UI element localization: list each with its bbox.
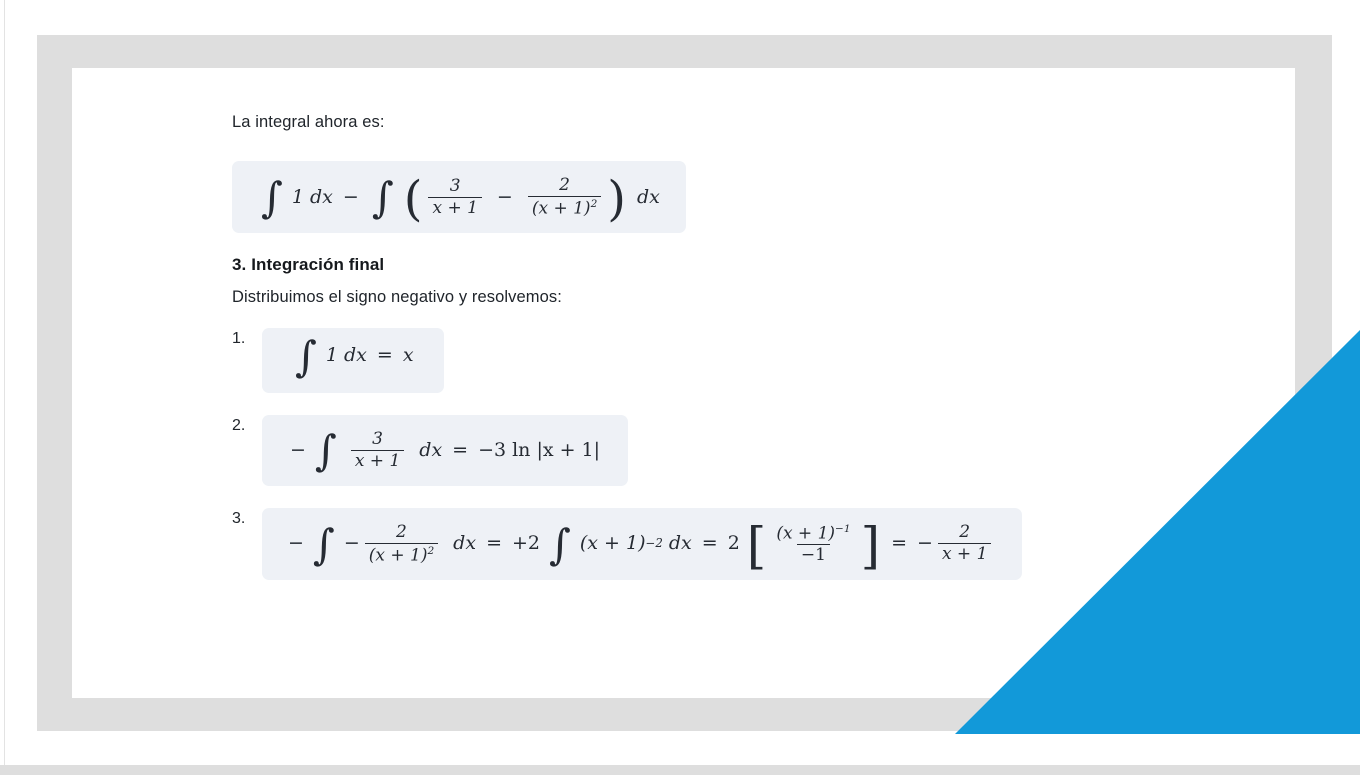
inner-minus-operator: − bbox=[497, 188, 513, 207]
denominator-base: (x + 1) bbox=[532, 198, 591, 218]
ln-operator: ln bbox=[512, 441, 530, 460]
main-formula: ∫ 1 dx − ∫ ( 3 x + 1 − bbox=[258, 177, 660, 218]
steps-list: 1. ∫ 1 dx = x bbox=[232, 328, 952, 580]
step-3-formula: − ∫ − 2 (x + 1)2 dx = bbox=[288, 524, 996, 565]
differential-dx: dx bbox=[453, 534, 476, 553]
differential-dx: dx bbox=[419, 441, 442, 460]
fraction-numerator: 3 bbox=[368, 431, 387, 450]
list-item: 1. ∫ 1 dx = x bbox=[232, 328, 952, 393]
integrand-one-dx: 1 dx bbox=[326, 346, 367, 365]
denominator-exponent: 2 bbox=[427, 545, 434, 557]
fraction-numerator: 2 bbox=[555, 177, 574, 196]
result-coefficient: −3 bbox=[478, 441, 506, 460]
fraction-two-over-x-plus-one-squared: 2 (x + 1)2 bbox=[528, 177, 601, 218]
power-base: (x + 1) bbox=[580, 534, 646, 553]
main-formula-wrapper: ∫ 1 dx − ∫ ( 3 x + 1 − bbox=[232, 161, 952, 234]
step-3-formula-box: − ∫ − 2 (x + 1)2 dx = bbox=[262, 508, 1022, 581]
leading-minus: − bbox=[290, 441, 306, 460]
leading-minus: − bbox=[288, 534, 304, 553]
denominator-exponent: 2 bbox=[591, 198, 598, 210]
page-viewport: La integral ahora es: ∫ 1 dx − ∫ ( 3 x +… bbox=[0, 0, 1360, 775]
step-1-formula-box: ∫ 1 dx = x bbox=[262, 328, 444, 393]
step-number: 1. bbox=[232, 328, 262, 348]
fraction-denominator: x + 1 bbox=[938, 543, 991, 563]
step-body: ∫ 1 dx = x bbox=[262, 328, 952, 393]
fraction-numerator: 2 bbox=[392, 524, 411, 543]
fraction-denominator: x + 1 bbox=[428, 197, 481, 217]
step-1-formula: ∫ 1 dx = x bbox=[292, 346, 414, 365]
section-heading: 3. Integración final bbox=[232, 255, 952, 275]
equals-sign-2: = bbox=[702, 534, 718, 553]
fraction-denominator: (x + 1)2 bbox=[365, 543, 438, 565]
fraction-numerator: (x + 1)−1 bbox=[772, 524, 854, 545]
absolute-value-x-plus-one: |x + 1| bbox=[536, 441, 600, 460]
step-body: − ∫ − 2 (x + 1)2 dx = bbox=[262, 508, 1022, 581]
differential-dx: dx bbox=[637, 188, 660, 207]
slide-content: La integral ahora es: ∫ 1 dx − ∫ ( 3 x +… bbox=[232, 110, 952, 602]
list-item: 2. − ∫ 3 x + 1 dx bbox=[232, 415, 952, 486]
step-number: 2. bbox=[232, 415, 262, 435]
fraction-two-over-x-plus-one-squared: 2 (x + 1)2 bbox=[365, 524, 438, 565]
fraction-three-over-x-plus-one: 3 x + 1 bbox=[428, 178, 481, 217]
viewport-bottom-band bbox=[0, 765, 1360, 775]
coefficient-two: 2 bbox=[728, 534, 740, 553]
equals-sign: = bbox=[377, 346, 393, 365]
differential-dx-2: dx bbox=[669, 534, 692, 553]
fraction-denominator: x + 1 bbox=[351, 450, 404, 470]
final-fraction-two-over-x-plus-one: 2 x + 1 bbox=[938, 524, 991, 563]
equals-sign-1: = bbox=[486, 534, 502, 553]
step-2-formula: − ∫ 3 x + 1 dx = bbox=[290, 431, 600, 470]
denominator-base: (x + 1) bbox=[369, 545, 428, 565]
coefficient-plus-two: +2 bbox=[512, 534, 540, 553]
fraction-numerator: 3 bbox=[446, 178, 465, 197]
fraction-denominator: −1 bbox=[797, 544, 830, 564]
intro-text: La integral ahora es: bbox=[232, 110, 952, 135]
bracket-fraction: (x + 1)−1 −1 bbox=[772, 524, 854, 565]
numerator-exponent: −1 bbox=[835, 523, 851, 535]
step-2-formula-box: − ∫ 3 x + 1 dx = bbox=[262, 415, 628, 486]
power-exponent: −2 bbox=[646, 538, 663, 550]
fraction-numerator: 2 bbox=[955, 524, 974, 543]
minus-operator: − bbox=[343, 188, 359, 207]
viewport-left-rule bbox=[4, 0, 5, 765]
step-body: − ∫ 3 x + 1 dx = bbox=[262, 415, 952, 486]
equals-sign-3: = bbox=[891, 534, 907, 553]
result-x: x bbox=[403, 346, 414, 365]
main-formula-box: ∫ 1 dx − ∫ ( 3 x + 1 − bbox=[232, 161, 686, 234]
numerator-base: (x + 1) bbox=[776, 523, 835, 543]
integrand-one-dx: 1 dx bbox=[292, 188, 333, 207]
inner-minus: − bbox=[344, 534, 360, 553]
step-number: 3. bbox=[232, 508, 262, 528]
fraction-three-over-x-plus-one: 3 x + 1 bbox=[351, 431, 404, 470]
list-item: 3. − ∫ − 2 (x + 1)2 bbox=[232, 508, 952, 581]
fraction-denominator: (x + 1)2 bbox=[528, 196, 601, 218]
final-minus: − bbox=[917, 534, 933, 553]
equals-sign: = bbox=[452, 441, 468, 460]
lead-in-text: Distribuimos el signo negativo y resolve… bbox=[232, 285, 952, 310]
